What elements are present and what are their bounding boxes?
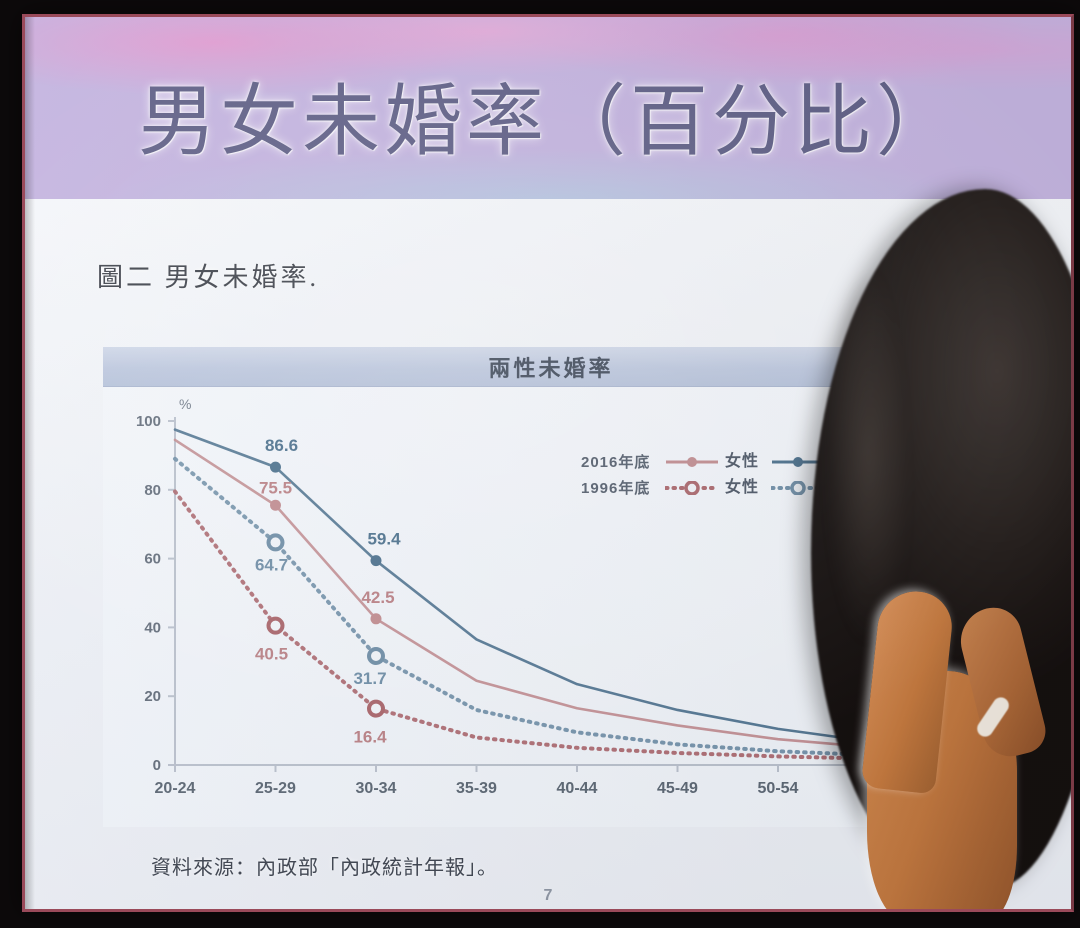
x-axis-tick-label: 25-29 (255, 780, 296, 797)
x-axis-tick-label: 20-24 (155, 780, 196, 797)
source-note: 資料來源：內政部「內政統計年報」。 (151, 851, 498, 880)
data-point-marker (269, 535, 283, 549)
y-axis-unit-label: % (179, 396, 191, 412)
page-title: 男女未婚率（百分比） (25, 59, 1071, 171)
y-axis-tick-label: 40 (144, 619, 161, 636)
data-point-label: 64.7 (255, 555, 288, 574)
data-point-marker (371, 613, 382, 624)
person-hand (861, 591, 1031, 912)
legend-swatch (665, 481, 719, 495)
slide-title-banner: 男女未婚率（百分比） (25, 17, 1071, 199)
y-axis-tick-label: 20 (144, 688, 161, 705)
screen-edge-shadow (25, 17, 35, 909)
data-point-marker (270, 500, 281, 511)
screenshot-root: 男女未婚率（百分比） 圖二 男女未婚率. 兩性未婚率 %020406080100… (0, 0, 1080, 928)
legend-year-label: 2016年底 (581, 455, 665, 470)
data-point-marker (269, 619, 283, 633)
chart-title: 兩性未婚率 (488, 351, 613, 383)
data-point-label: 31.7 (353, 669, 386, 688)
legend-year-label: 1996年底 (581, 481, 665, 496)
y-axis-tick-label: 100 (136, 413, 161, 430)
data-point-label: 75.5 (259, 478, 292, 497)
legend-series-label: 女性 (725, 480, 759, 496)
data-point-label: 42.5 (361, 588, 394, 607)
data-point-marker (371, 555, 382, 566)
y-axis-tick-label: 0 (153, 757, 161, 774)
y-axis-tick-label: 60 (144, 551, 161, 568)
footer-divider (67, 911, 1029, 912)
data-point-label: 40.5 (255, 645, 288, 664)
x-axis-tick-label: 45-49 (657, 780, 698, 797)
data-point-marker (369, 649, 383, 663)
legend-series-label: 女性 (725, 454, 759, 470)
chart-data-labels: 86.675.564.740.559.442.531.716.4 (255, 436, 401, 746)
data-point-marker (270, 462, 281, 473)
x-axis-tick-label: 35-39 (456, 780, 497, 797)
data-point-label: 86.6 (265, 436, 298, 455)
y-axis-tick-label: 80 (144, 482, 161, 499)
projected-slide: 男女未婚率（百分比） 圖二 男女未婚率. 兩性未婚率 %020406080100… (22, 14, 1074, 912)
data-point-label: 59.4 (367, 530, 401, 549)
data-point-marker (369, 702, 383, 716)
legend-swatch (665, 455, 719, 469)
legend-entry: 女性 (665, 454, 759, 470)
legend-entry: 女性 (665, 480, 759, 496)
x-axis-tick-label: 50-54 (758, 780, 799, 797)
x-axis-tick-label: 30-34 (356, 780, 397, 797)
x-axis-tick-label: 40-44 (557, 780, 598, 797)
data-point-label: 16.4 (353, 728, 387, 747)
figure-caption: 圖二 男女未婚率. (97, 257, 319, 294)
